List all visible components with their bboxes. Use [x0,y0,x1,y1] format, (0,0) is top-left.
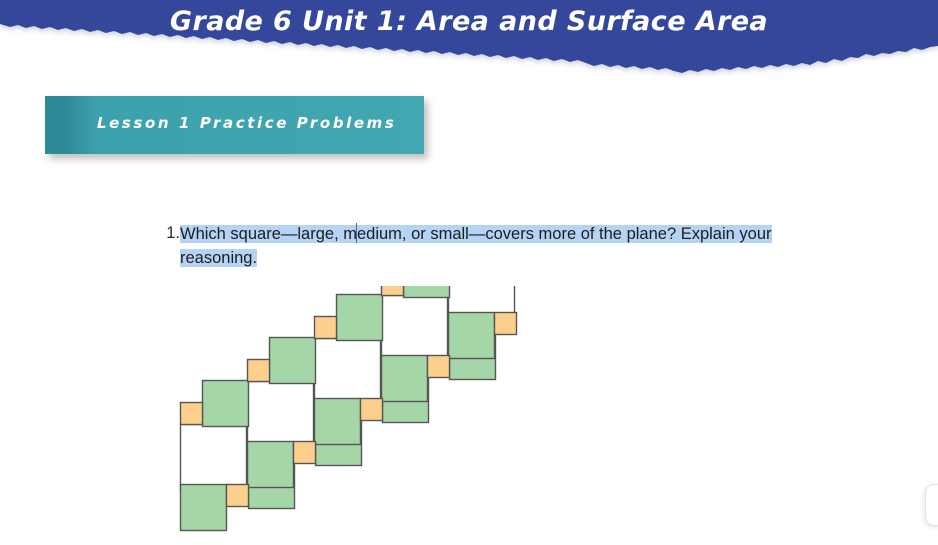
tile-square-small [294,442,316,464]
lesson-banner: Lesson 1 Practice Problems [45,96,424,154]
tile-square-large [248,382,314,448]
question-number: 1. [160,224,180,243]
tile-square-small [227,485,249,507]
tile-square-small [315,317,337,339]
floating-action-widget[interactable] [925,484,938,526]
tile-square-small [361,399,383,421]
tile-square-medium [248,442,294,488]
tile-square-medium [315,399,361,445]
question-text[interactable]: Which square—large, medium, or small—cov… [180,222,810,270]
plane-tiling-figure [172,286,522,542]
tile-square-large [315,339,381,405]
tile-square-large [181,425,247,491]
tile-square-large [382,296,448,362]
tile-square-small [428,356,450,378]
page-title: Grade 6 Unit 1: Area and Surface Area [0,0,938,44]
tile-square-small [382,286,404,296]
tile-square-medium [337,295,383,341]
tile-square-medium [181,485,227,531]
question-text-selection: Which square—large, medium, or small—cov… [180,225,772,267]
tile-square-small [248,360,270,382]
text-cursor-caret [356,223,357,243]
lesson-banner-label: Lesson 1 Practice Problems [97,114,396,132]
page-header: Grade 6 Unit 1: Area and Surface Area [0,0,938,78]
tiling-squares-group [181,286,517,531]
tile-square-medium [404,286,450,298]
tile-square-medium [449,313,495,359]
tile-square-medium [382,356,428,402]
tile-square-small [181,403,203,425]
tile-square-medium [203,381,249,427]
tile-square-small [495,313,517,335]
tile-square-medium [270,338,316,384]
